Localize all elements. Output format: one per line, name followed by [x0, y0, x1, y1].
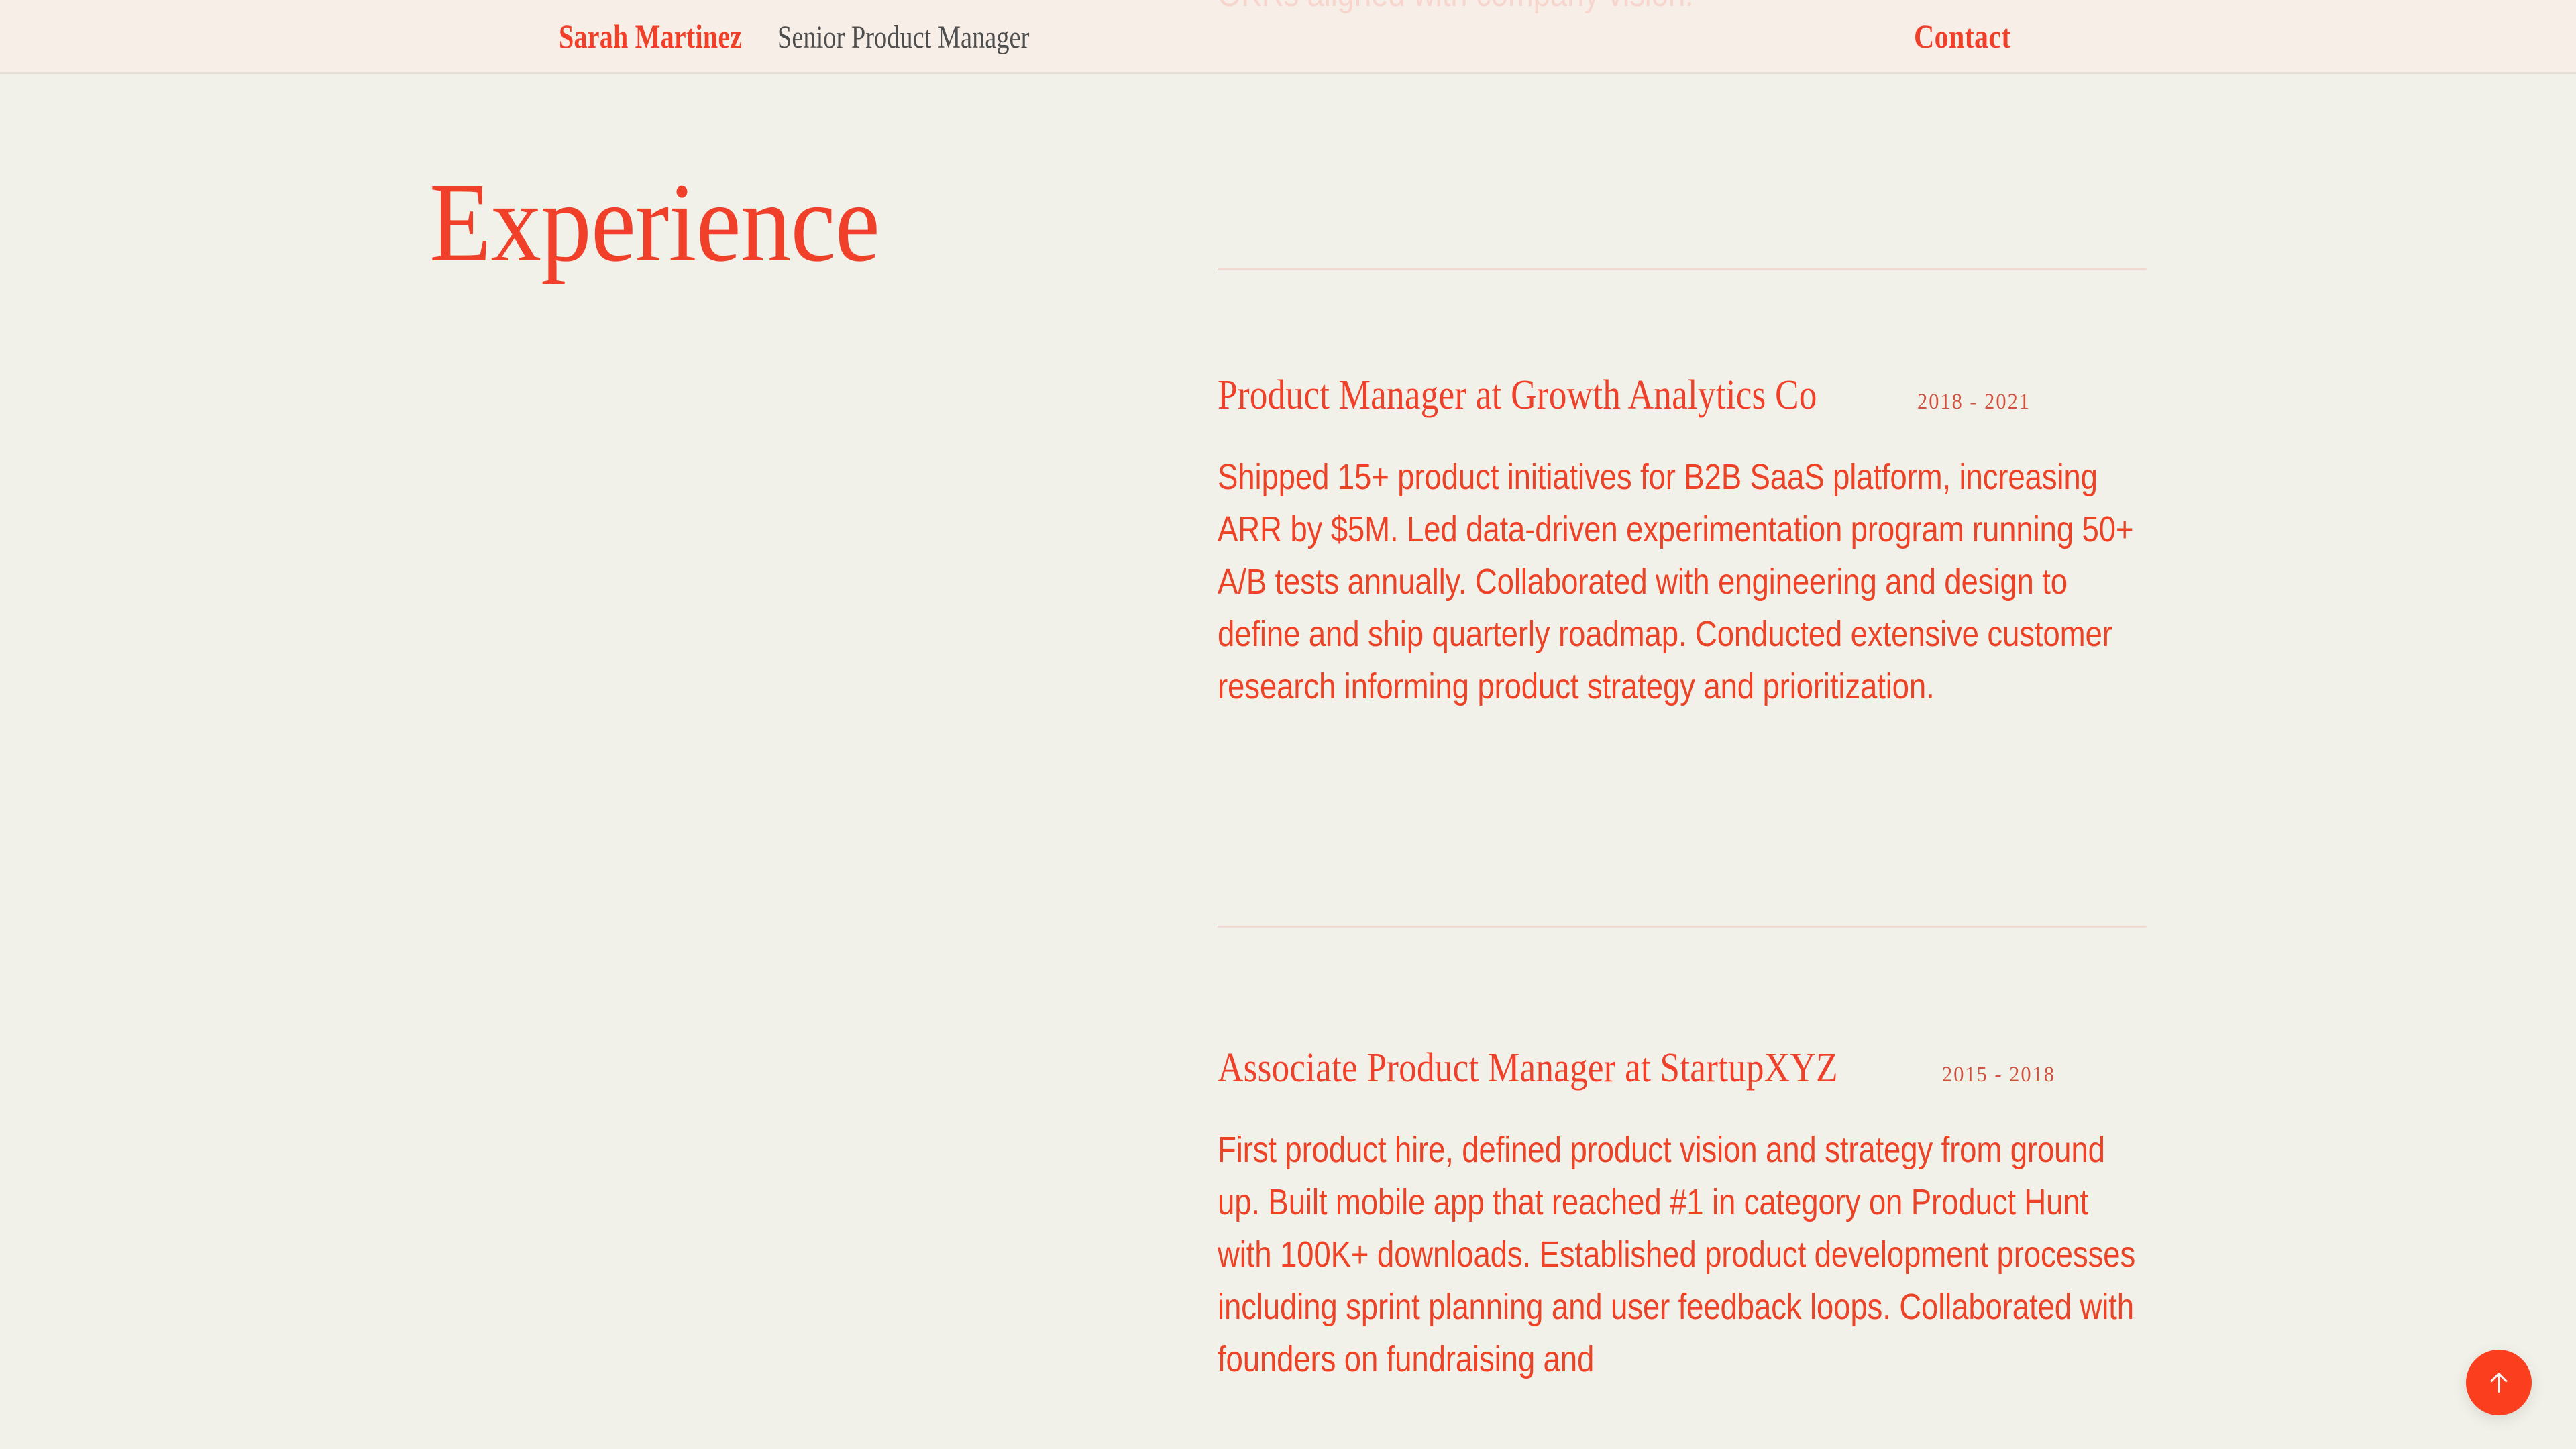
page-title: Experience [429, 166, 879, 279]
entry-dates: 2015 - 2018 [1942, 1063, 2055, 1087]
experience-section: Experience engineers, designers, and ana… [0, 0, 2576, 1449]
entry-dates: 2018 - 2021 [1917, 390, 2031, 415]
entry-divider [1218, 926, 2147, 928]
brand-block[interactable]: Sarah Martinez Senior Product Manager [559, 17, 1092, 56]
arrow-up-icon [2485, 1368, 2512, 1397]
section-heading-column: Experience [429, 166, 1100, 279]
site-header: Sarah Martinez Senior Product Manager Co… [0, 0, 2576, 74]
nav-link-contact[interactable]: Contact [1914, 17, 2011, 56]
brand-name[interactable]: Sarah Martinez [559, 17, 742, 56]
entry-title: Associate Product Manager at StartupXYZ [1218, 1045, 1838, 1091]
entry-title: Product Manager at Growth Analytics Co [1218, 372, 1817, 419]
entry-divider [1218, 268, 2147, 271]
scroll-to-top-button[interactable] [2466, 1350, 2532, 1415]
experience-entry: Product Manager at Growth Analytics Co 2… [1218, 372, 2321, 712]
experience-entry: Associate Product Manager at StartupXYZ … [1218, 1045, 2321, 1385]
entry-description: First product hire, defined product visi… [1218, 1124, 2150, 1385]
brand-role: Senior Product Manager [777, 19, 1029, 56]
entry-description: Shipped 15+ product initiatives for B2B … [1218, 451, 2150, 712]
